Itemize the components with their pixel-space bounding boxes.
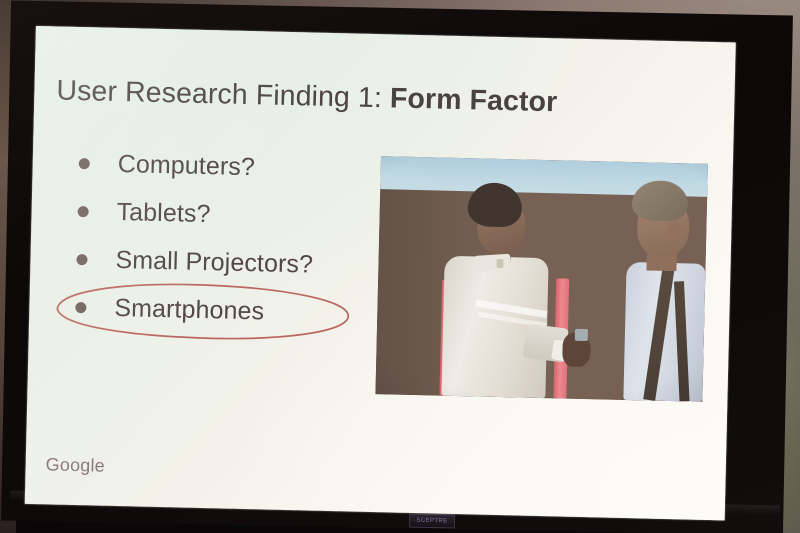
bullet-list: Computers? Tablets? Small Projectors? Sm… <box>75 139 409 339</box>
bullet-dot-icon <box>76 254 87 265</box>
bullet-dot-icon <box>75 302 86 313</box>
list-item: Tablets? <box>77 187 408 243</box>
photo-scene: SCEPTRE User Research Finding 1: Form Fa… <box>0 0 800 533</box>
display-brand-plate: SCEPTRE <box>409 514 455 529</box>
bullet-label: Tablets? <box>116 197 211 228</box>
slide-title-regular: User Research Finding 1: <box>56 75 390 115</box>
bullet-label: Smartphones <box>114 293 264 326</box>
bullet-label: Computers? <box>117 149 255 181</box>
slide-photo <box>375 156 708 402</box>
slide-title-bold: Form Factor <box>390 82 558 118</box>
list-item-highlighted: Smartphones <box>75 283 406 339</box>
presentation-slide: User Research Finding 1: Form Factor Com… <box>25 26 736 520</box>
bullet-dot-icon <box>79 158 90 169</box>
list-item: Small Projectors? <box>76 235 407 291</box>
list-item: Computers? <box>78 139 409 195</box>
google-wordmark: Google <box>45 454 105 476</box>
photo-projection-haze <box>375 156 708 402</box>
bullet-dot-icon <box>78 206 89 217</box>
bullet-label: Small Projectors? <box>115 245 313 279</box>
display-brand-label: SCEPTRE <box>416 518 447 525</box>
